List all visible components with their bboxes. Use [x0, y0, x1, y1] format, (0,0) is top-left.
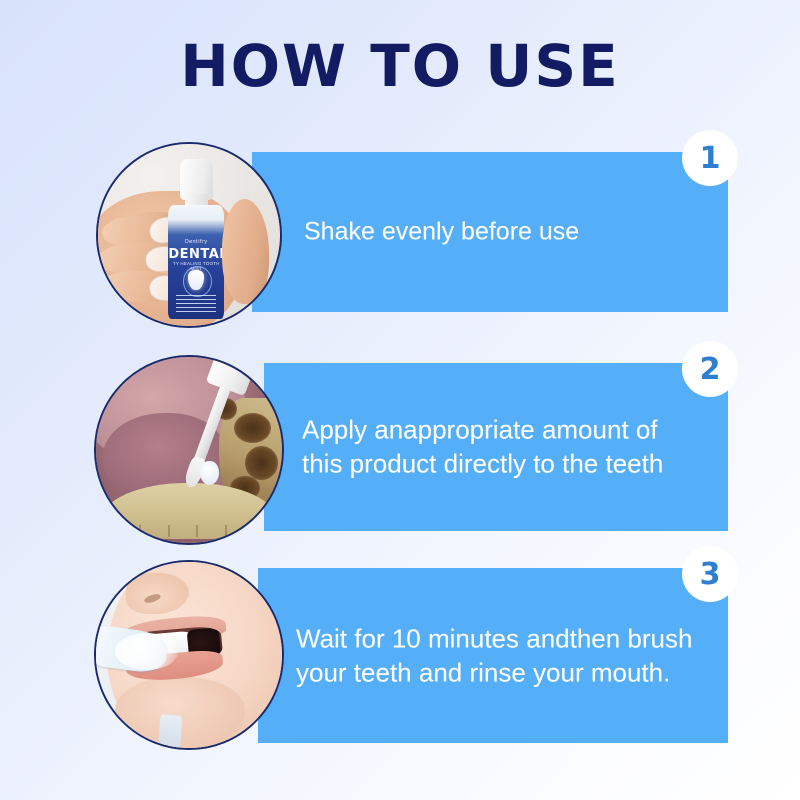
tooth-seam: [139, 525, 141, 537]
how-to-use-poster: HOW TO USE Shake evenly before use 1: [0, 0, 800, 800]
tooth-stain: [234, 413, 271, 443]
toothbrush-lower-part: [158, 714, 183, 750]
step-row-1: Shake evenly before use 1 Dentifry DEN: [0, 140, 800, 340]
step-3-banner: Wait for 10 minutes andthen brush your t…: [258, 568, 728, 743]
tooth-seam: [225, 525, 227, 537]
toothpaste-foam: [115, 633, 178, 670]
hand-holding-dental-spray-bottle-image: Dentifry DENTAL TY HEALING TOOTH MIST: [98, 144, 280, 326]
step-2-banner: Apply anappropriate amount of this produ…: [264, 363, 728, 531]
step-1-text: Shake evenly before use: [304, 216, 579, 249]
step-1-number-badge: 1: [682, 130, 738, 186]
step-2-photo: [94, 355, 284, 545]
tooth-seam: [196, 525, 198, 537]
page-title: HOW TO USE: [0, 32, 800, 102]
step-2-text: Apply anappropriate amount of this produ…: [302, 413, 663, 482]
step-3-number-badge: 3: [682, 546, 738, 602]
step-3-photo: [94, 560, 284, 750]
liquid-drop: [200, 461, 219, 485]
applicator-applying-to-stained-teeth-image: [96, 357, 282, 543]
step-row-2: Apply anappropriate amount of this produ…: [0, 355, 800, 555]
step-1-photo: Dentifry DENTAL TY HEALING TOOTH MIST: [96, 142, 282, 328]
tooth-stain: [245, 446, 278, 479]
spray-bottle: Dentifry DENTAL TY HEALING TOOTH MIST: [167, 159, 225, 319]
step-1-banner: Shake evenly before use 1: [252, 152, 728, 312]
tooth-seam: [168, 525, 170, 537]
bottle-brand-label: Dentifry: [168, 239, 224, 245]
bottle-body: Dentifry DENTAL TY HEALING TOOTH MIST: [168, 205, 224, 319]
step-row-3: Wait for 10 minutes andthen brush your t…: [0, 560, 800, 760]
thumb-shape: [222, 199, 269, 305]
step-2-number-badge: 2: [682, 341, 738, 397]
bottle-fine-print: [176, 295, 216, 315]
step-3-text: Wait for 10 minutes andthen brush your t…: [296, 621, 692, 690]
woman-brushing-teeth-image: [96, 562, 282, 748]
